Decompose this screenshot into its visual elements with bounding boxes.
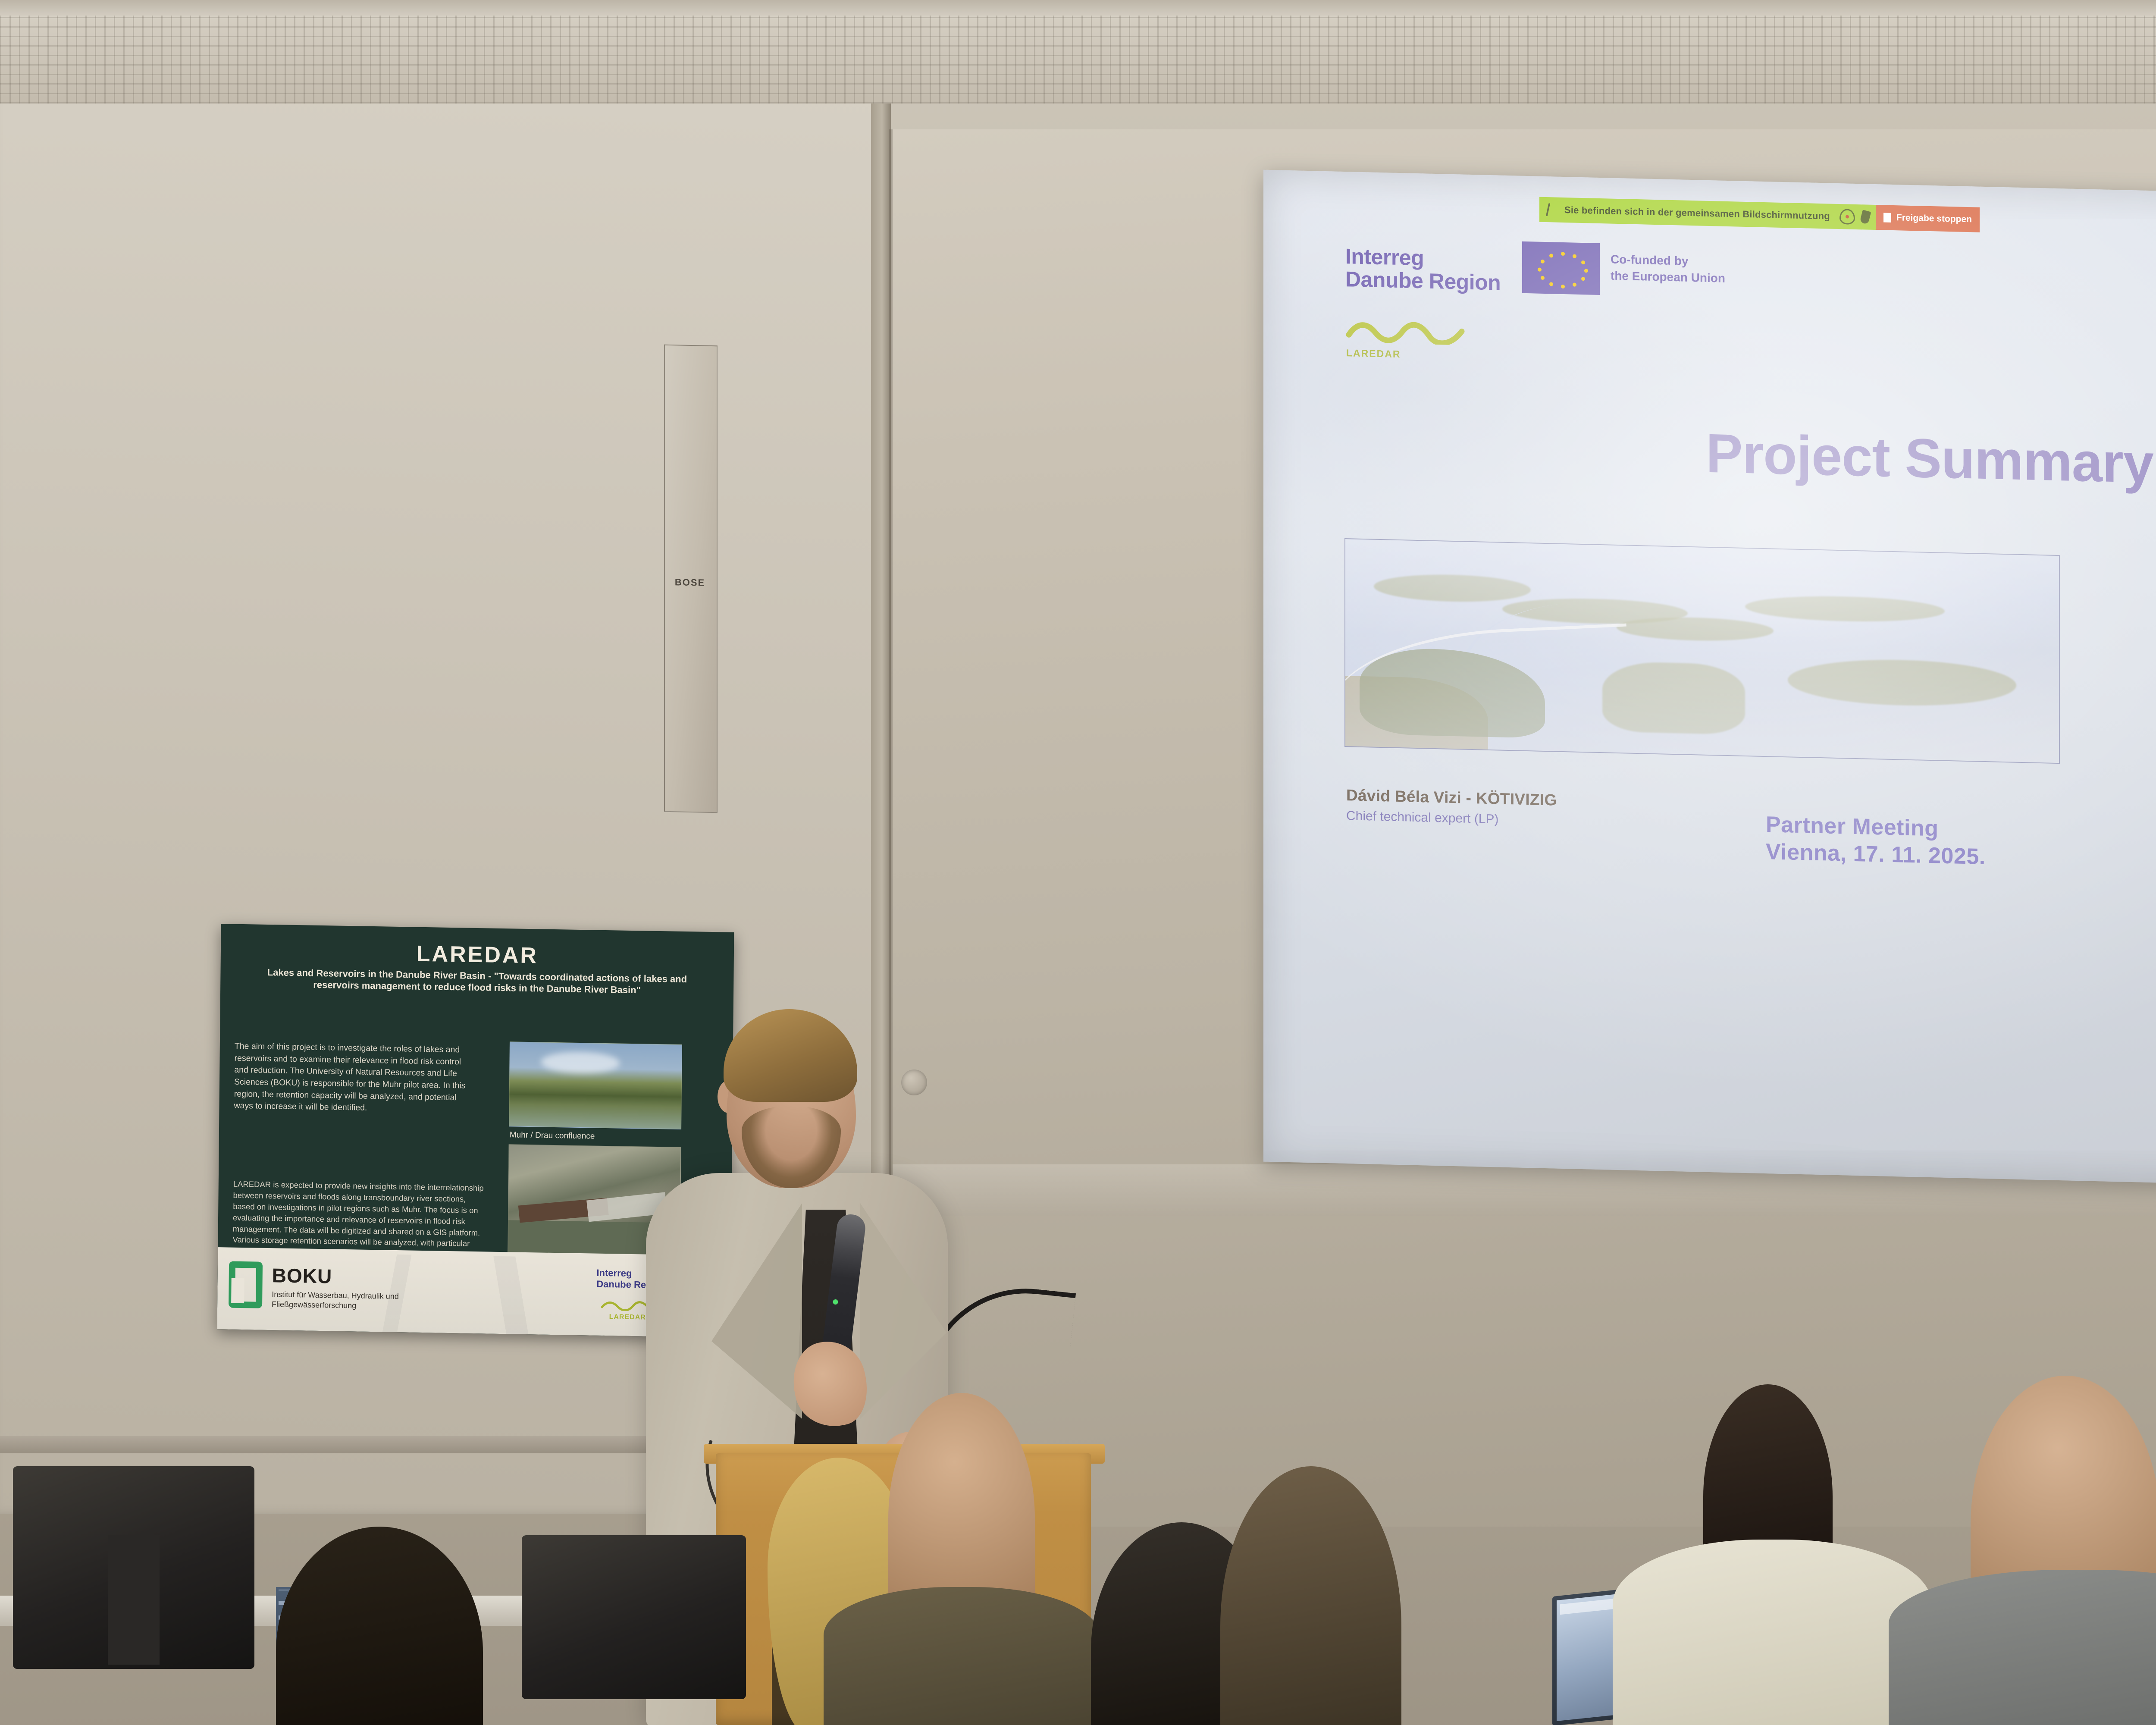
speaker-brand-label: BOSE [673,577,707,589]
presentation-room-photo: BOSE LAREDAR Lakes and Reservoirs in the… [0,0,2156,1725]
boku-department: Institut für Wasserbau, Hydraulik und Fl… [272,1289,410,1311]
wall-mounted-knob [901,1069,927,1095]
pin-icon[interactable] [1839,209,1855,225]
laredar-wave-icon [1346,319,1465,345]
presenter-name: Dávid Béla Vizi - KÖTIVIZIG [1346,786,1557,809]
poster-footer-laredar: LAREDAR [609,1313,646,1321]
stop-square-icon [1883,213,1891,222]
eu-funding-text: Co-funded by the European Union [1611,251,1725,287]
drag-handle-icon[interactable] [1546,203,1556,216]
poster-photo-confluence [509,1041,682,1129]
laredar-logo: LAREDAR [1346,319,1465,361]
acoustic-ceiling [0,0,2156,103]
interreg-logo: Interreg Danube Region [1345,245,1501,294]
eu-flag-icon [1522,241,1600,295]
audience-hoodie [1613,1540,1932,1725]
meeting-line2: Vienna, 17. 11. 2025. [1766,838,1986,871]
slide-presenter-block: Dávid Béla Vizi - KÖTIVIZIG Chief techni… [1346,786,1557,828]
poster-subtitle: Lakes and Reservoirs in the Danube River… [248,966,706,997]
slide-meeting-block: Partner Meeting Vienna, 17. 11. 2025. [1766,811,1986,871]
monitor-back-right [522,1535,746,1699]
screen-share-notice-bar: Sie befinden sich in der gemeinsamen Bil… [1539,197,1876,230]
meeting-line1: Partner Meeting [1766,811,1986,844]
interreg-line2: Danube Region [1345,268,1501,294]
poster-title: LAREDAR [234,938,721,972]
eu-line2: the European Union [1611,267,1725,286]
poster-paragraph-1: The aim of this project is to investigat… [234,1041,476,1116]
ceiling-band [0,0,2156,16]
audience-vest [1889,1570,2156,1725]
screen-share-bar[interactable]: Sie befinden sich in der gemeinsamen Bil… [1539,197,1980,232]
slide-title: Project Summary [1263,411,2156,506]
boku-name: BOKU [272,1264,332,1288]
presenter-role: Chief technical expert (LP) [1346,809,1557,828]
slide-aerial-photo [1344,538,2060,764]
photo-haze [1345,539,2059,763]
stop-sharing-button[interactable]: Freigabe stoppen [1876,205,1980,232]
audience-body-1 [824,1587,1100,1725]
projection-screen: Sie befinden sich in der gemeinsamen Bil… [1263,170,2156,1193]
laredar-label: LAREDAR [1346,347,1465,361]
monitor-stand-left [108,1535,160,1665]
pen-icon[interactable] [1860,210,1871,224]
stop-sharing-label: Freigabe stoppen [1896,213,1972,225]
poster-caption-1: Muhr / Drau confluence [510,1130,595,1141]
screen-share-notice-text: Sie befinden sich in der gemeinsamen Bil… [1564,204,1830,222]
boku-logo-icon [229,1261,263,1308]
eu-line1: Co-funded by [1611,251,1725,270]
